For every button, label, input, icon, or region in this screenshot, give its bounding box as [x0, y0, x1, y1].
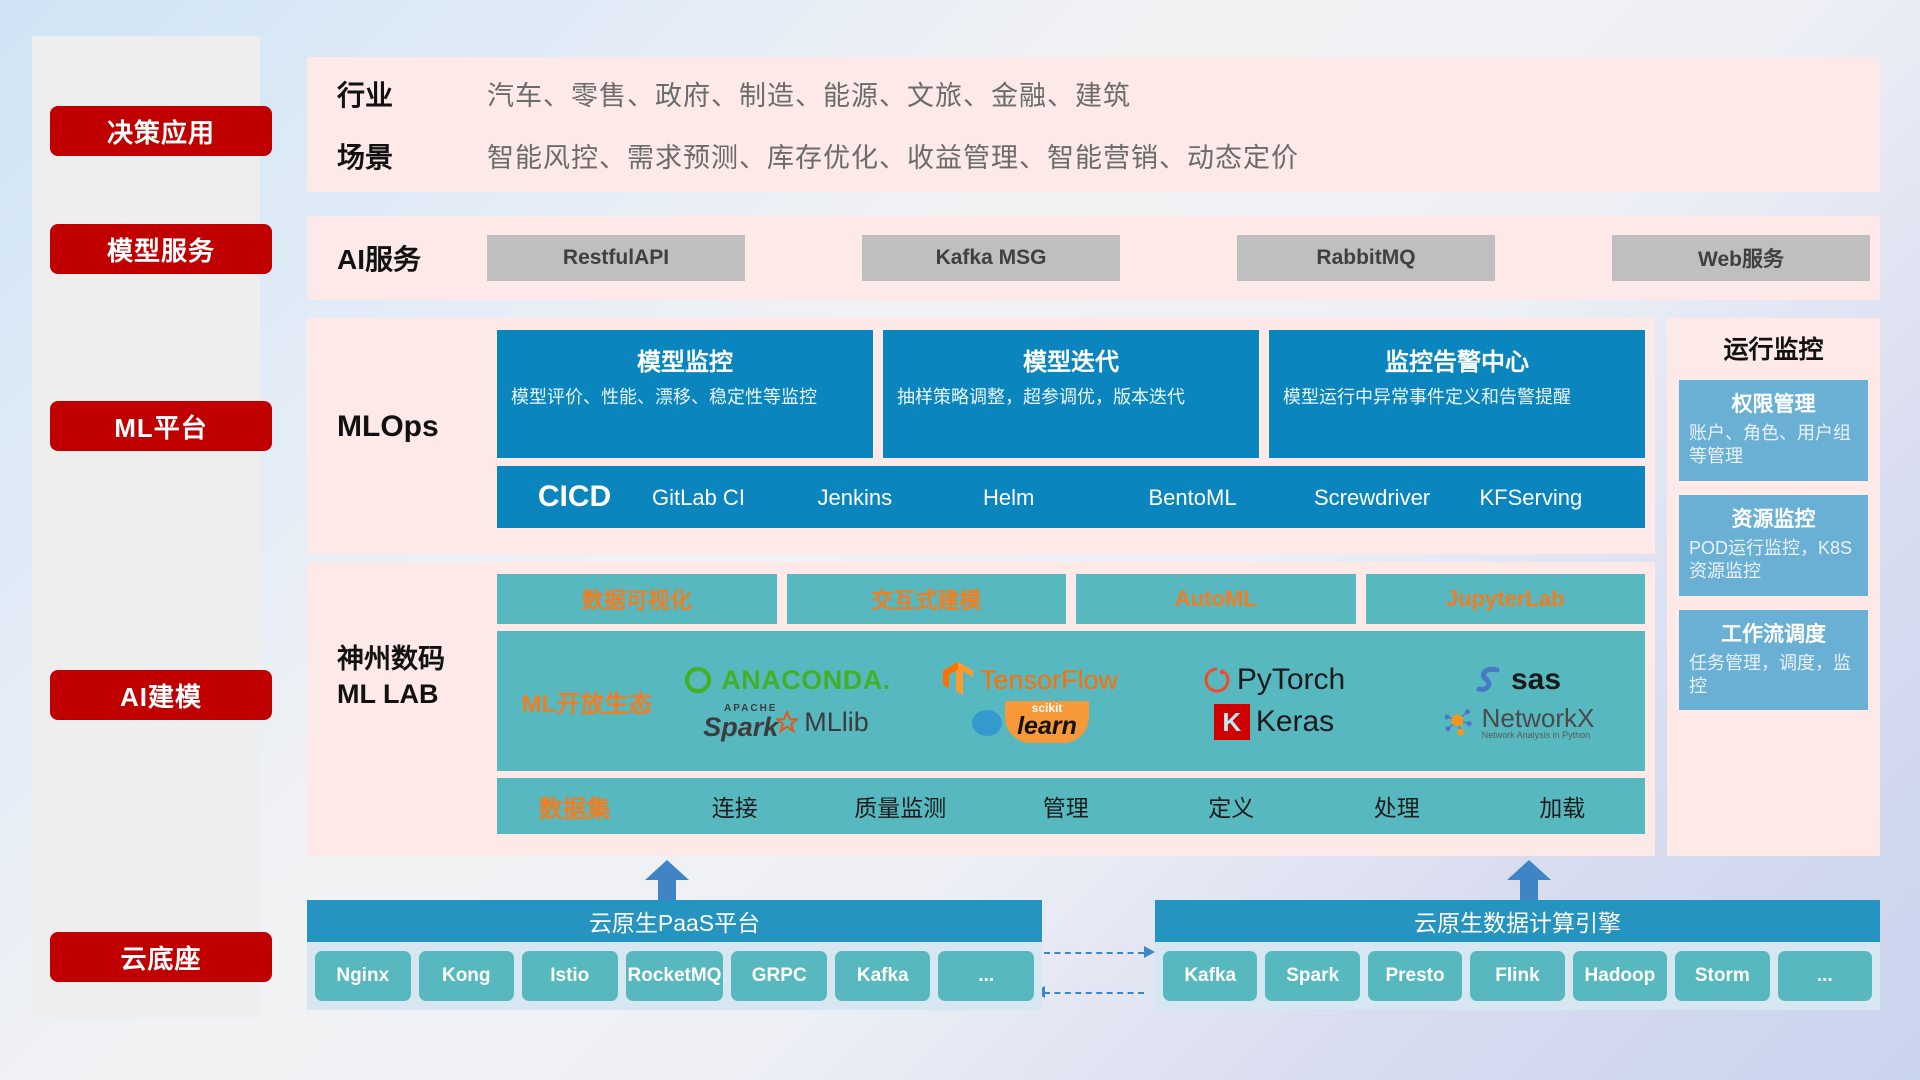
- engine-chip-flink[interactable]: Flink: [1470, 951, 1564, 1001]
- lab-tab-jupyterlab[interactable]: JupyterLab: [1366, 574, 1646, 624]
- scikit-learn-logo: scikit learn: [971, 701, 1089, 743]
- layer-chip-ai-modeling[interactable]: AI建模: [50, 670, 272, 720]
- industry-row: 行业 汽车、零售、政府、制造、能源、文旅、金融、建筑: [337, 74, 1880, 114]
- service-chip-rabbitmq[interactable]: RabbitMQ: [1237, 235, 1495, 281]
- ml-lab-label: 神州数码 ML LAB: [337, 574, 497, 712]
- anaconda-logo: ANACONDA.: [681, 663, 891, 697]
- ai-modeling-band: 神州数码 ML LAB 数据可视化 交互式建模 AutoML JupyterLa…: [307, 562, 1655, 856]
- paas-platform-header: 云原生PaaS平台: [307, 900, 1042, 942]
- card-desc: 账户、角色、用户组等管理: [1689, 422, 1858, 469]
- card-desc: 模型运行中异常事件定义和告警提醒: [1283, 385, 1631, 409]
- up-arrow-paas: [645, 860, 689, 902]
- layer-chip-model-service[interactable]: 模型服务: [50, 224, 272, 274]
- mlops-label: MLOps: [337, 330, 497, 444]
- card-desc: 模型评价、性能、漂移、稳定性等监控: [511, 385, 859, 409]
- lab-tab-interactive-modeling[interactable]: 交互式建模: [787, 574, 1067, 624]
- dashed-line-back: [1044, 992, 1144, 994]
- scenario-row: 场景 智能风控、需求预测、库存优化、收益管理、智能营销、动态定价: [337, 136, 1880, 176]
- layer-chip-ml-platform[interactable]: ML平台: [50, 401, 272, 451]
- applications-band: 行业 汽车、零售、政府、制造、能源、文旅、金融、建筑 场景 智能风控、需求预测、…: [307, 57, 1880, 192]
- dataset-item-quality[interactable]: 质量监测: [818, 789, 984, 823]
- cicd-item-kfserving[interactable]: KFServing: [1480, 485, 1646, 509]
- paas-chip-rocketmq[interactable]: RocketMQ: [626, 951, 724, 1001]
- layer-chip-decision-app[interactable]: 决策应用: [50, 106, 272, 156]
- service-chip-restfulapi[interactable]: RestfulAPI: [487, 235, 745, 281]
- keras-logo: K Keras: [1214, 704, 1334, 740]
- spark-word-text: Spark: [703, 714, 778, 741]
- paas-chip-kafka[interactable]: Kafka: [835, 951, 931, 1001]
- dataset-bar: 数据集 连接 质量监测 管理 定义 处理 加载: [497, 778, 1645, 834]
- tensorflow-logo: TensorFlow: [942, 661, 1118, 699]
- engine-chip-storm[interactable]: Storm: [1675, 951, 1769, 1001]
- card-desc: POD运行监控，K8S资源监控: [1689, 537, 1858, 584]
- compute-engine-group: 云原生数据计算引擎 Kafka Spark Presto Flink Hadoo…: [1155, 900, 1880, 1010]
- dataset-item-connect[interactable]: 连接: [652, 789, 818, 823]
- card-title: 模型迭代: [897, 342, 1245, 377]
- service-chip-kafka-msg[interactable]: Kafka MSG: [862, 235, 1120, 281]
- cicd-item-screwdriver[interactable]: Screwdriver: [1314, 485, 1480, 509]
- layer-chip-cloud-base[interactable]: 云底座: [50, 932, 272, 982]
- cicd-item-jenkins[interactable]: Jenkins: [818, 485, 984, 509]
- cicd-item-helm[interactable]: Helm: [983, 485, 1149, 509]
- engine-chip-hadoop[interactable]: Hadoop: [1573, 951, 1667, 1001]
- keras-logo-text: Keras: [1256, 705, 1334, 739]
- scikit-learn-logo-text: learn: [1017, 714, 1077, 739]
- dataset-item-process[interactable]: 处理: [1314, 789, 1480, 823]
- ml-lab-label-line1: 神州数码: [337, 642, 497, 677]
- architecture-diagram: 决策应用 模型服务 ML平台 AI建模 云底座 行业 汽车、零售、政府、制造、能…: [0, 0, 1920, 1080]
- industry-label: 行业: [337, 74, 487, 114]
- networkx-logo-text: NetworkX: [1482, 705, 1595, 731]
- ai-service-label: AI服务: [337, 238, 487, 278]
- paas-chip-kong[interactable]: Kong: [419, 951, 515, 1001]
- tensorflow-logo-text: TensorFlow: [980, 665, 1118, 696]
- mlops-card-model-monitor[interactable]: 模型监控 模型评价、性能、漂移、稳定性等监控: [497, 330, 873, 458]
- lab-tab-data-visualization[interactable]: 数据可视化: [497, 574, 777, 624]
- ml-lab-label-line2: ML LAB: [337, 677, 497, 712]
- spark-mllib-logo: APACHE Spark MLlib: [703, 704, 869, 741]
- monitor-card-permission[interactable]: 权限管理 账户、角色、用户组等管理: [1679, 380, 1868, 481]
- mlops-card-alert-center[interactable]: 监控告警中心 模型运行中异常事件定义和告警提醒: [1269, 330, 1645, 458]
- engine-chip-spark[interactable]: Spark: [1265, 951, 1359, 1001]
- up-arrow-compute-engine: [1507, 860, 1551, 902]
- dataset-title: 数据集: [497, 789, 652, 824]
- anaconda-logo-text: ANACONDA.: [721, 665, 891, 696]
- dataset-item-define[interactable]: 定义: [1149, 789, 1315, 823]
- monitor-card-workflow[interactable]: 工作流调度 任务管理，调度，监控: [1679, 610, 1868, 711]
- card-desc: 任务管理，调度，监控: [1689, 652, 1858, 699]
- ml-ecosystem-title: ML开放生态: [507, 684, 667, 719]
- bidirectional-link: [1044, 944, 1156, 1004]
- cicd-bar: CICD GitLab CI Jenkins Helm BentoML Scre…: [497, 466, 1645, 528]
- dataset-item-load[interactable]: 加载: [1480, 789, 1646, 823]
- mllib-logo-text: MLlib: [804, 707, 869, 738]
- engine-chip-more[interactable]: ...: [1778, 951, 1872, 1001]
- compute-engine-header: 云原生数据计算引擎: [1155, 900, 1880, 942]
- industry-values: 汽车、零售、政府、制造、能源、文旅、金融、建筑: [487, 74, 1131, 113]
- pytorch-logo-text: PyTorch: [1237, 663, 1345, 697]
- mlops-band: MLOps 模型监控 模型评价、性能、漂移、稳定性等监控 模型迭代 抽样策略调整…: [307, 318, 1655, 554]
- paas-chip-more[interactable]: ...: [938, 951, 1034, 1001]
- paas-chip-istio[interactable]: Istio: [522, 951, 618, 1001]
- paas-chip-nginx[interactable]: Nginx: [315, 951, 411, 1001]
- dashed-line-forward: [1044, 952, 1144, 954]
- monitoring-title: 运行监控: [1679, 330, 1868, 366]
- sas-logo-text: sas: [1511, 663, 1561, 697]
- card-title: 监控告警中心: [1283, 342, 1631, 377]
- card-title: 资源监控: [1689, 503, 1858, 533]
- networkx-subtitle: Network Analysis in Python: [1482, 731, 1595, 740]
- card-desc: 抽样策略调整，超参调优，版本迭代: [897, 385, 1245, 409]
- arrowhead-right-icon: [1144, 946, 1155, 958]
- cicd-title: CICD: [497, 480, 652, 514]
- layer-rail: 决策应用 模型服务 ML平台 AI建模 云底座: [32, 36, 260, 1018]
- ai-service-band: AI服务 RestfulAPI Kafka MSG RabbitMQ Web服务: [307, 216, 1880, 300]
- ml-ecosystem-box: ML开放生态 ANACONDA.: [497, 631, 1645, 771]
- cicd-item-gitlab-ci[interactable]: GitLab CI: [652, 485, 818, 509]
- monitor-card-resource[interactable]: 资源监控 POD运行监控，K8S资源监控: [1679, 495, 1868, 596]
- scenario-values: 智能风控、需求预测、库存优化、收益管理、智能营销、动态定价: [487, 136, 1299, 175]
- paas-platform-group: 云原生PaaS平台 Nginx Kong Istio RocketMQ GRPC…: [307, 900, 1042, 1010]
- card-title: 权限管理: [1689, 388, 1858, 418]
- paas-chip-grpc[interactable]: GRPC: [731, 951, 827, 1001]
- engine-chip-presto[interactable]: Presto: [1368, 951, 1462, 1001]
- scenario-label: 场景: [337, 136, 487, 176]
- card-title: 工作流调度: [1689, 618, 1858, 648]
- runtime-monitoring-panel: 运行监控 权限管理 账户、角色、用户组等管理 资源监控 POD运行监控，K8S资…: [1667, 318, 1880, 856]
- cicd-item-bentoml[interactable]: BentoML: [1149, 485, 1315, 509]
- mlops-card-model-iteration[interactable]: 模型迭代 抽样策略调整，超参调优，版本迭代: [883, 330, 1259, 458]
- lab-tab-automl[interactable]: AutoML: [1076, 574, 1356, 624]
- sas-logo: sas: [1475, 663, 1561, 697]
- service-chip-web[interactable]: Web服务: [1612, 235, 1870, 281]
- pytorch-logo: PyTorch: [1203, 663, 1345, 697]
- networkx-logo: NetworkX Network Analysis in Python: [1442, 705, 1595, 740]
- engine-chip-kafka[interactable]: Kafka: [1163, 951, 1257, 1001]
- dataset-item-manage[interactable]: 管理: [983, 789, 1149, 823]
- card-title: 模型监控: [511, 342, 859, 377]
